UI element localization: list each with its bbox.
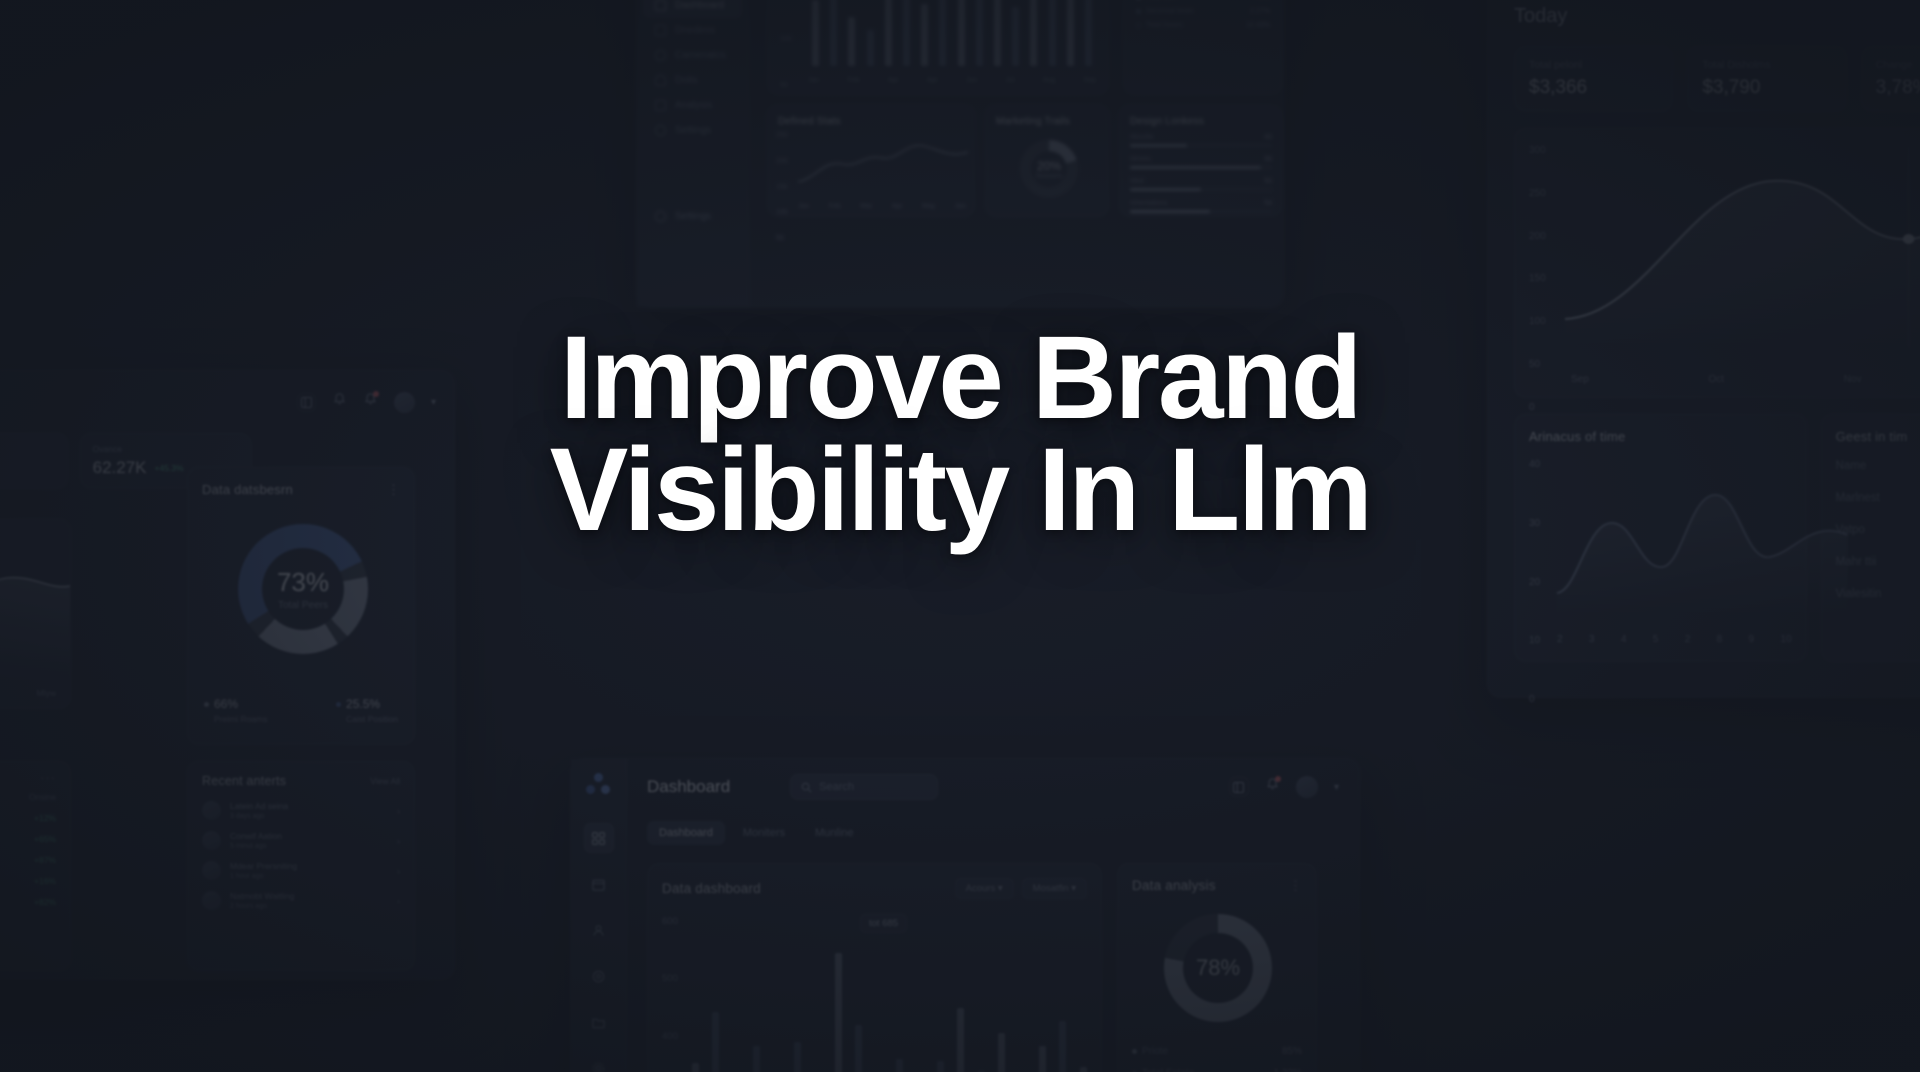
table-row[interactable]: Abemsy $3.80 +12% bbox=[0, 813, 56, 823]
table-row[interactable]: SuprvQQorl $4.80 +87% bbox=[0, 855, 56, 865]
chevron-right-icon: › bbox=[397, 866, 400, 876]
legend-item: Priote bbox=[1132, 1046, 1168, 1057]
stat-label: Total pelonl bbox=[1529, 59, 1658, 71]
sidebar-item-label: Dashboard bbox=[675, 0, 724, 11]
sidebar-item-dnedeos[interactable]: Dnedeos bbox=[643, 18, 742, 43]
legend-dot bbox=[1132, 1049, 1137, 1054]
table-row[interactable]: Ponkeshio $2.64 +65% bbox=[0, 834, 56, 844]
chevron-right-icon: › bbox=[397, 896, 400, 906]
x-axis-labels: Jan Feb Mar Apr May Jan bbox=[798, 203, 966, 210]
legend-item: 25.5% Caist Position bbox=[336, 697, 398, 724]
bottom-header: Dashboard Search ▾ bbox=[627, 759, 1359, 815]
card-title: Data analysis bbox=[1132, 878, 1216, 893]
bottom-tabs: Dashboard Moniters Munline bbox=[647, 821, 866, 845]
bar-chart bbox=[808, 0, 1096, 66]
sidebar-item-doits[interactable]: Doits bbox=[643, 68, 742, 93]
legend-dot bbox=[336, 702, 341, 707]
area-chart bbox=[0, 564, 70, 682]
stat-card-change: Change 3,78% ~30 bbox=[1861, 46, 1920, 112]
legend-item: 66% Preimi Roams bbox=[204, 697, 267, 724]
gear-icon bbox=[655, 125, 666, 136]
bottom-dashboard: Dashboard Search ▾ Dashboard Moniters bbox=[570, 758, 1360, 1072]
card-title: Design Lonkess bbox=[1130, 116, 1272, 127]
page-title: Today bbox=[1514, 5, 1920, 28]
headline-line-1: Improve Brand bbox=[0, 322, 1920, 434]
y-axis-labels: 250 200 150 100 50 bbox=[776, 132, 794, 242]
stat-value: $3,366 bbox=[1529, 77, 1658, 99]
card-title: Data dashboard bbox=[662, 881, 761, 896]
notification-dot bbox=[1275, 776, 1281, 782]
donut-center-value: 73% bbox=[277, 567, 329, 598]
sidebar-item-camenatcs[interactable]: Camenatcs bbox=[643, 43, 742, 68]
bar-chart bbox=[692, 940, 1087, 1072]
legend-item: Total Estate bbox=[1132, 1068, 1194, 1072]
donut-center-sub: Total Peers bbox=[278, 600, 328, 611]
sidebar-item-label: Settings bbox=[675, 211, 711, 222]
stat-label: Total Disholms bbox=[1702, 59, 1831, 71]
users-icon bbox=[655, 75, 666, 86]
column-header: Onsine bbox=[1, 792, 56, 802]
list-item[interactable]: Mdear Prersniting 1 hour ago › bbox=[202, 861, 400, 880]
card-title: Defined Stats bbox=[778, 116, 964, 127]
donut-center-value: 78% bbox=[1196, 955, 1240, 981]
top-data-dashboard-card: Data dashboard Purposas ▾ Ueam ▾ 250 200… bbox=[767, 0, 1109, 95]
legend-dot bbox=[1136, 9, 1141, 14]
stat-value: 3,78% bbox=[1876, 77, 1920, 99]
chevron-right-icon: › bbox=[397, 836, 400, 846]
defined-stats-card: Defined Stats 250 200 150 100 50 Jan Feb… bbox=[767, 105, 975, 217]
tab-munline[interactable]: Munline bbox=[803, 821, 866, 845]
sidebar-item-label: Analysis bbox=[675, 100, 712, 111]
search-placeholder: Search bbox=[819, 781, 854, 793]
top-center-dashboard: Dashboard Dnedeos Camenatcs Doits Analys… bbox=[636, 0, 1284, 308]
layout-icon[interactable] bbox=[1229, 777, 1249, 797]
donut-chart: 20% Seasons bbox=[1020, 140, 1078, 198]
cluster-logo bbox=[586, 773, 612, 799]
top-sidebar: Dashboard Dnedeos Camenatcs Doits Analys… bbox=[637, 0, 749, 307]
target-icon[interactable] bbox=[584, 961, 614, 991]
chart-tooltip: tot 685 bbox=[860, 914, 907, 933]
hero-stage: Dashboard Dnedeos Camenatcs Doits Analys… bbox=[0, 0, 1920, 1072]
stat-value: $3,790 bbox=[1702, 77, 1831, 99]
left-table-card: ··· Name Price Onsine Abemsy $3.80 +12% … bbox=[0, 761, 71, 971]
dropdown-acours[interactable]: Acours ▾ bbox=[955, 878, 1014, 899]
headline-line-2: Visibility In Llm bbox=[0, 434, 1920, 546]
progress-bar bbox=[1130, 210, 1272, 213]
area-chart bbox=[1565, 147, 1920, 347]
design-lonkess-card: Design Lonkess Absolte 40 Idnioto 98 Ide… bbox=[1119, 105, 1283, 217]
list-item[interactable]: Latein Ad seina 3 days ago › bbox=[202, 801, 400, 820]
marketing-trails-card: Marketing Trails 20% Seasons bbox=[985, 105, 1109, 217]
tab-dashboard[interactable]: Dashboard bbox=[647, 821, 725, 845]
chevron-down-icon[interactable]: ▾ bbox=[1334, 782, 1339, 793]
sidebar-item-label: Settings bbox=[675, 125, 711, 136]
legend-dot bbox=[1136, 23, 1141, 28]
more-horizontal-icon[interactable]: ··· bbox=[0, 774, 56, 782]
chart-icon bbox=[655, 100, 666, 111]
card-title: Recent anterts bbox=[202, 774, 286, 788]
sidebar-item-dashboard[interactable]: Dashboard bbox=[643, 0, 742, 18]
calendar-icon[interactable] bbox=[584, 869, 614, 899]
donut-center-value: 20% bbox=[1037, 159, 1061, 173]
table-row[interactable]: Soparrt $0.99 +16% bbox=[0, 876, 56, 886]
tab-moniters[interactable]: Moniters bbox=[731, 821, 797, 845]
box-icon bbox=[655, 25, 666, 36]
sidebar-item-label: Dnedeos bbox=[675, 25, 715, 36]
progress-bar bbox=[1130, 144, 1272, 147]
progress-bar bbox=[1130, 166, 1272, 169]
x-axis-labels: 2 3 4 5 2 8 9 10 bbox=[1557, 634, 1792, 645]
y-axis-labels: 600 500 400 300 200 100 bbox=[662, 916, 688, 1072]
bottom-data-analysis-card: Data analysis ⋮ 78% Priote 85% Total Est… bbox=[1117, 863, 1317, 1072]
list-item[interactable]: Conwif Aation 5 minut ago › bbox=[202, 831, 400, 850]
sidebar-item-label: Doits bbox=[675, 75, 698, 86]
avatar bbox=[202, 891, 221, 910]
donut-center-sub: Seasons bbox=[1035, 173, 1062, 180]
bottom-data-dashboard-card: Data dashboard Acours ▾ Mosatfin ▾ 600 5… bbox=[647, 863, 1102, 1072]
top-data-desiocrony-card: Data desiocrony ⋮ 70% Total Care 45.1 Se… bbox=[1123, 0, 1283, 95]
gear-icon bbox=[655, 211, 666, 222]
recent-alerts-card: Recent anterts View All Latein Ad seina … bbox=[187, 761, 415, 971]
list-item[interactable]: Vialesitin bbox=[1836, 588, 1920, 600]
grid-icon bbox=[655, 0, 666, 11]
chevron-right-icon: › bbox=[397, 806, 400, 816]
list-item[interactable]: Mahr ttii bbox=[1836, 556, 1920, 568]
x-axis-labels: Jan Feb Apr Apr Jun Jul Aug Sep bbox=[808, 77, 1096, 84]
search-icon bbox=[801, 782, 812, 793]
bell-icon[interactable] bbox=[1265, 777, 1280, 797]
sidebar-footer-settings[interactable]: Settings bbox=[643, 204, 723, 229]
sidebar-item-label: Camenatcs bbox=[675, 50, 726, 61]
grid-icon[interactable] bbox=[584, 823, 614, 853]
legend-dot bbox=[204, 702, 209, 707]
search-input[interactable]: Search bbox=[790, 774, 938, 800]
list-item[interactable]: Natmobt Waitling 2 hours ago › bbox=[202, 891, 400, 910]
hero-headline: Improve Brand Visibility In Llm bbox=[0, 322, 1920, 546]
stat-label: Change bbox=[1876, 59, 1920, 71]
donut-chart: 78% bbox=[1164, 914, 1272, 1022]
avatar bbox=[202, 801, 221, 820]
folder-icon[interactable] bbox=[584, 1007, 614, 1037]
dropdown-mosatfin[interactable]: Mosatfin ▾ bbox=[1022, 878, 1087, 899]
sidebar-item-analysis[interactable]: Analysis bbox=[643, 93, 742, 118]
icon-rail bbox=[571, 759, 627, 1072]
stat-card-total-pelonl: Total pelonl $3,366 bbox=[1514, 46, 1673, 112]
left-area-card: Year Mlyw bbox=[0, 519, 71, 709]
table-row[interactable]: Cinnaneom $0.34 +82% bbox=[0, 897, 56, 907]
card-title: Marketing Trails bbox=[996, 116, 1098, 127]
view-all-link[interactable]: View All bbox=[370, 776, 400, 786]
circle-icon bbox=[655, 50, 666, 61]
sidebar-item-settings[interactable]: Settings bbox=[643, 118, 742, 143]
page-title: Dashboard bbox=[647, 777, 730, 797]
area-chart bbox=[798, 134, 968, 196]
avatar[interactable] bbox=[1296, 776, 1318, 798]
more-vertical-icon[interactable]: ⋮ bbox=[1289, 881, 1302, 891]
avatar bbox=[202, 861, 221, 880]
user-icon[interactable] bbox=[584, 915, 614, 945]
stat-card-total-disholms: Total Disholms $3,790 bbox=[1687, 46, 1846, 112]
progress-bar bbox=[1130, 188, 1272, 191]
gear-icon[interactable] bbox=[584, 1053, 614, 1072]
x-axis-labels: Year Mlyw bbox=[0, 688, 56, 698]
avatar bbox=[202, 831, 221, 850]
